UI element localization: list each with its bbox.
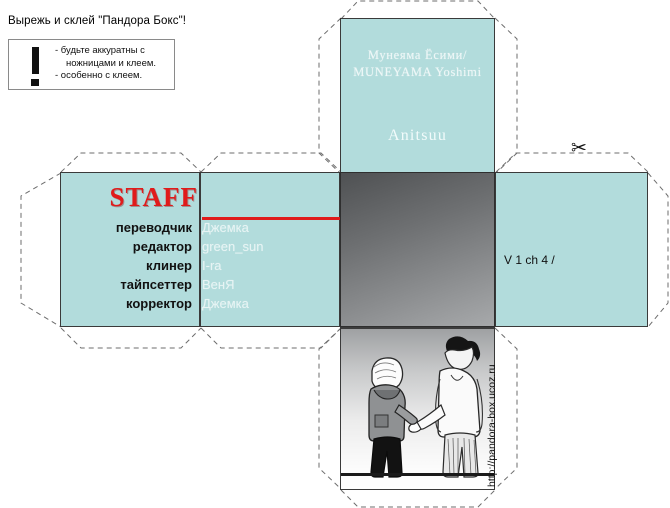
cube-face-center-gradient xyxy=(340,172,495,327)
page-title: Вырежь и склей "Пандора Бокс"! xyxy=(8,15,186,27)
site-url-watermark: http://pandora-box.ucoz.ru xyxy=(483,330,501,490)
papercraft-cube-net-sheet: Вырежь и склей "Пандора Бокс"! - будьте … xyxy=(0,0,670,508)
staff-row: клинерI-ra xyxy=(60,256,340,275)
author-credit: Мунеяма Ёсими/ MUNEYAMA Yoshimi xyxy=(341,47,494,81)
cube-face-top: Мунеяма Ёсими/ MUNEYAMA Yoshimi Anitsuu xyxy=(340,18,495,173)
author-name-latin: MUNEYAMA Yoshimi xyxy=(341,64,494,81)
scissors-icon: ✂ xyxy=(571,139,587,158)
staff-row: переводчикДжемка xyxy=(60,218,340,237)
staff-role-label: переводчик xyxy=(60,218,198,237)
staff-member-name: green_sun xyxy=(198,237,340,256)
glue-tab-upper-staff xyxy=(200,152,342,173)
manga-artwork xyxy=(341,327,494,489)
author-name-ru: Мунеяма Ёсими/ xyxy=(341,47,494,64)
cube-face-bottom-artwork xyxy=(340,327,495,490)
staff-role-label: корректор xyxy=(60,294,198,313)
glue-tab-far-left xyxy=(20,172,62,328)
staff-role-label: клинер xyxy=(60,256,198,275)
warning-line-2: ножницами и клеем. xyxy=(55,58,156,71)
staff-member-name: I-ra xyxy=(198,256,340,275)
staff-member-name: ВенЯ xyxy=(198,275,340,294)
glue-tab-top xyxy=(318,0,518,20)
glue-tab-lower-left xyxy=(60,327,202,349)
staff-member-name: Джемка xyxy=(198,218,340,237)
glue-tab-bottom xyxy=(318,489,518,508)
staff-credits-block: STAFF переводчикДжемкаредакторgreen_sunк… xyxy=(60,172,340,327)
staff-member-name: Джемка xyxy=(198,294,340,313)
staff-role-label: тайпсеттер xyxy=(60,275,198,294)
staff-row: редакторgreen_sun xyxy=(60,237,340,256)
glue-tab-far-right xyxy=(647,172,669,328)
warning-text: - будьте аккуратны с ножницами и клеем. … xyxy=(55,45,156,83)
warning-line-3: - особенно с клеем. xyxy=(55,70,156,83)
group-name: Anitsuu xyxy=(341,127,494,145)
warning-line-1: - будьте аккуратны с xyxy=(55,45,156,58)
exclamation-mark-icon xyxy=(23,44,49,88)
glue-tab-bottom-left-side xyxy=(318,327,342,490)
staff-role-label: редактор xyxy=(60,237,198,256)
chapter-label: V 1 ch 4 / xyxy=(504,253,555,267)
glue-tab-upper-left xyxy=(60,152,202,173)
site-url-text: http://pandora-box.ucoz.ru xyxy=(486,327,498,487)
staff-row: корректорДжемка xyxy=(60,294,340,313)
cube-face-right: V 1 ch 4 / xyxy=(495,172,648,327)
staff-row-list: переводчикДжемкаредакторgreen_sunклинерI… xyxy=(60,218,340,313)
staff-heading: STAFF xyxy=(109,182,198,212)
warning-box: - будьте аккуратны с ножницами и клеем. … xyxy=(8,39,175,90)
staff-row: тайпсеттерВенЯ xyxy=(60,275,340,294)
